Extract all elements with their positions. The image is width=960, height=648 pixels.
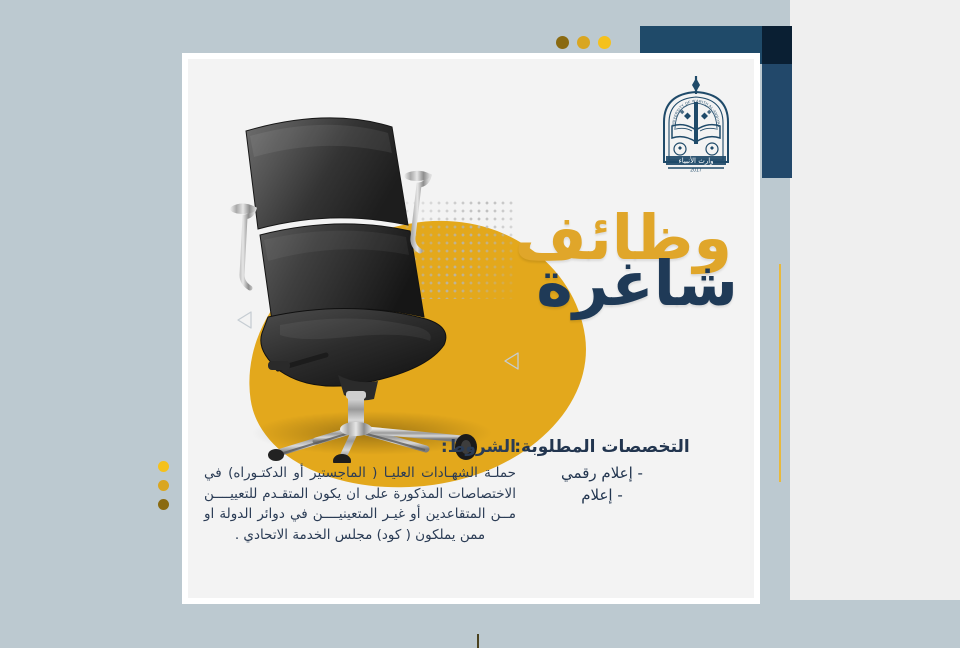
university-emblem: UNIVERSITY OF WARITH AL-ANBIYAA — [644, 72, 748, 176]
headline-line-2: شاغرة — [515, 253, 738, 315]
side-dot-3 — [158, 499, 169, 510]
top-dot-group — [556, 36, 611, 49]
conditions-title: الشروط: — [204, 437, 516, 457]
poster-card: UNIVERSITY OF WARITH AL-ANBIYAA — [188, 59, 754, 598]
top-dot-1 — [556, 36, 569, 49]
navy-frame-corner — [762, 26, 792, 64]
background-right-panel — [790, 0, 960, 612]
conditions-block: الشروط: حملـة الشهـادات العليـا ( الماجس… — [204, 437, 516, 545]
top-dot-3 — [598, 36, 611, 49]
headline: وظائف شاغرة — [515, 207, 732, 315]
gold-vertical-rule — [779, 264, 781, 482]
svg-text:وارث الأنبياء: وارث الأنبياء — [678, 156, 713, 165]
poster-canvas: UNIVERSITY OF WARITH AL-ANBIYAA — [0, 0, 960, 648]
conditions-body: حملـة الشهـادات العليـا ( الماجستير أو ا… — [204, 463, 516, 545]
background-bottom-band — [0, 600, 960, 648]
top-dot-2 — [577, 36, 590, 49]
bottom-tick-mark — [477, 634, 479, 648]
side-dot-group — [158, 461, 169, 510]
side-dot-1 — [158, 461, 169, 472]
side-dot-2 — [158, 480, 169, 491]
background-left-strip — [0, 0, 190, 648]
office-chair-photo — [220, 103, 520, 463]
